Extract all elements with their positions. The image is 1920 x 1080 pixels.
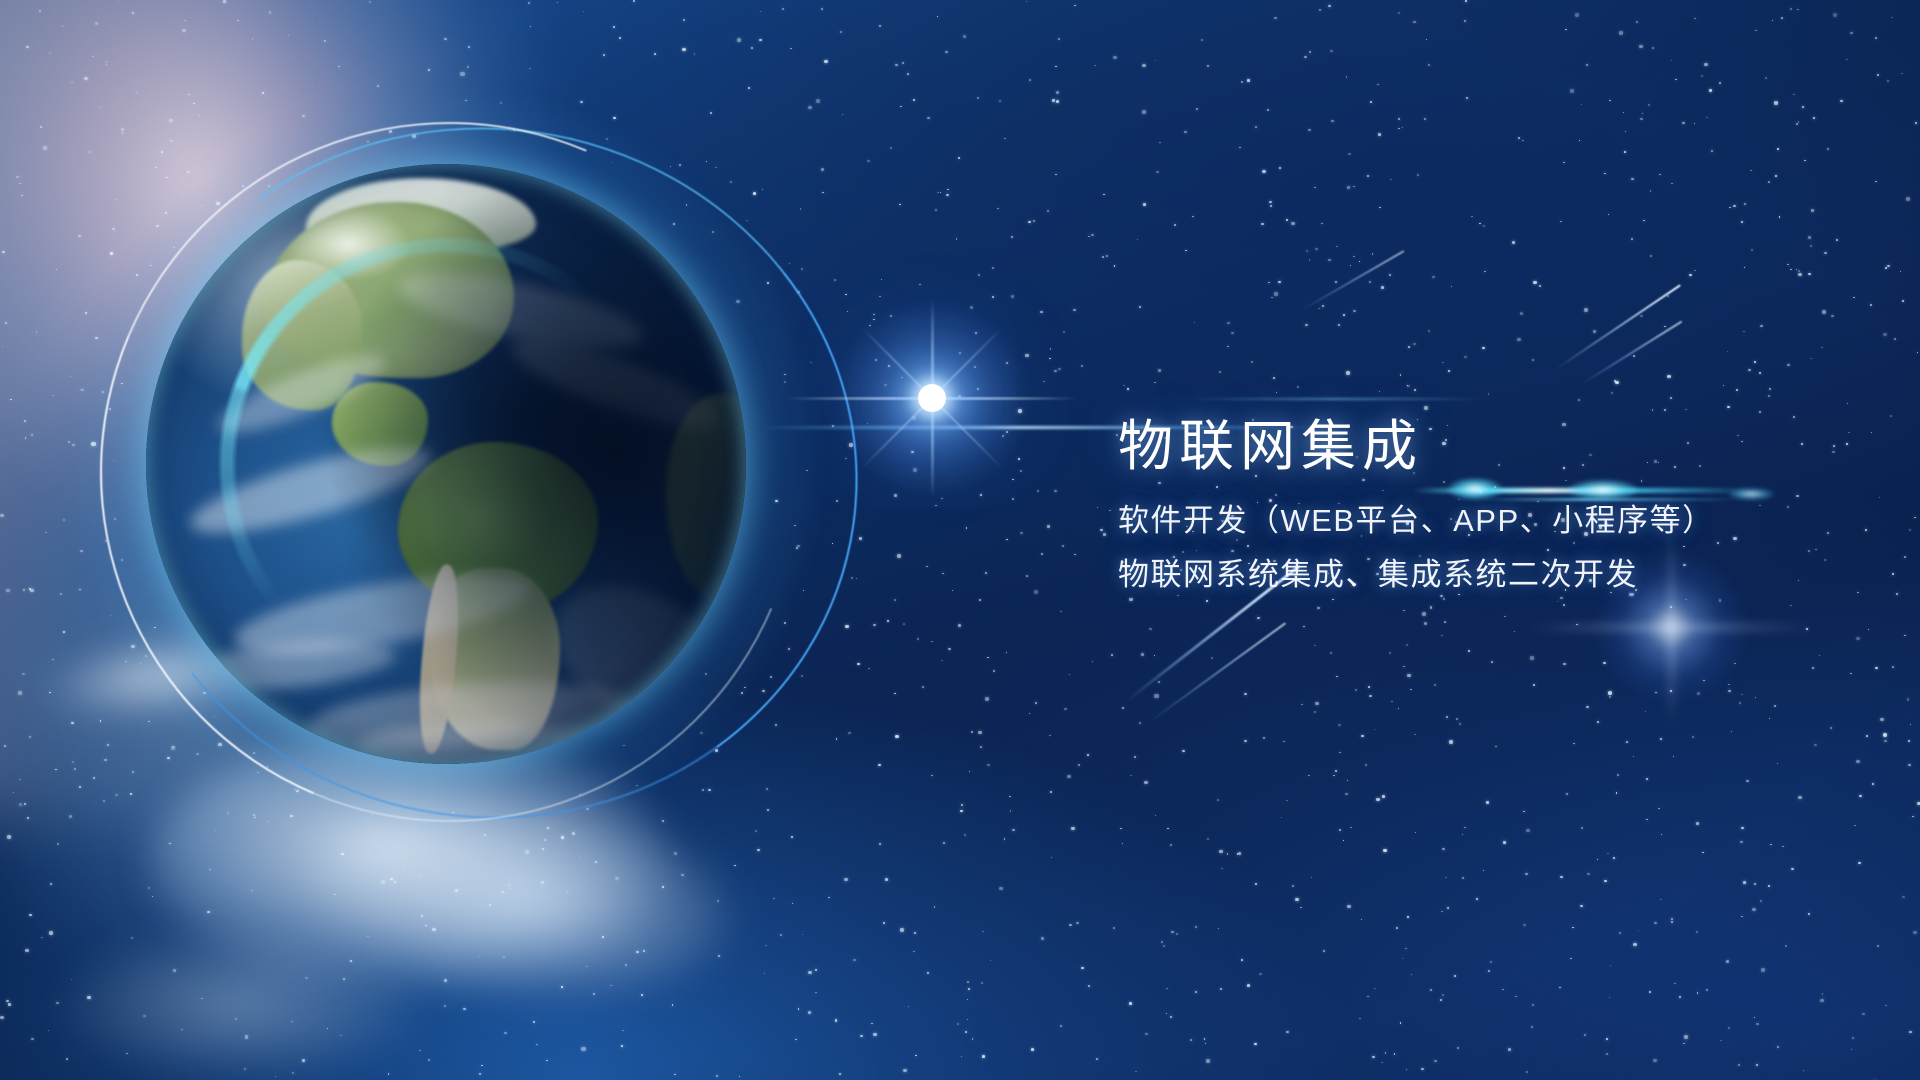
flare-core: [918, 384, 946, 412]
cloud-wisp: [60, 930, 420, 1080]
hero-subtitle-1: 软件开发（WEB平台、APP、小程序等）: [1118, 498, 1818, 545]
hero-headline: 物联网集成: [1118, 418, 1818, 476]
cyan-light-streak: [1186, 398, 1486, 400]
hero-text-block: 物联网集成 软件开发（WEB平台、APP、小程序等） 物联网系统集成、集成系统二…: [1118, 418, 1818, 599]
hero-banner: 物联网集成 软件开发（WEB平台、APP、小程序等） 物联网系统集成、集成系统二…: [0, 0, 1920, 1080]
lens-flare-star-icon: [822, 288, 1042, 508]
hero-subtitle-2: 物联网系统集成、集成系统二次开发: [1118, 552, 1818, 599]
